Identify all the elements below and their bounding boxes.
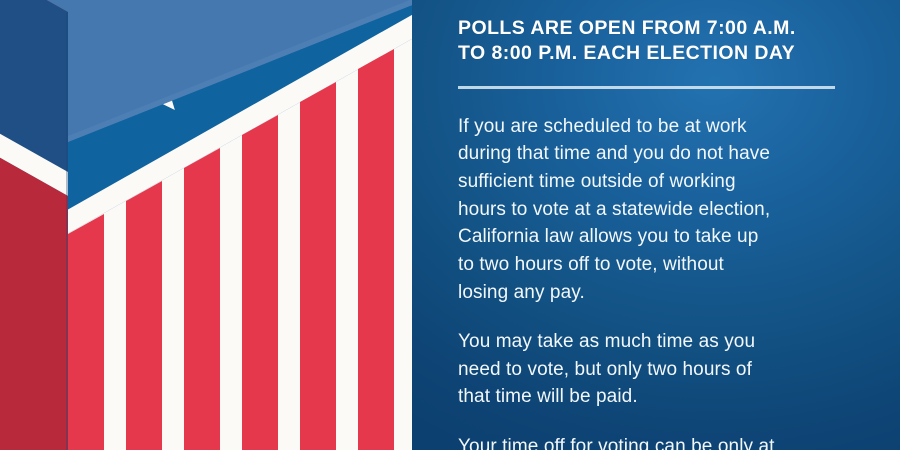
stripe-red-4 [242, 115, 278, 450]
flag-illustration [0, 0, 412, 450]
body-copy: If you are scheduled to be at work durin… [458, 113, 810, 450]
stripe-red-5 [300, 82, 336, 450]
stripe-red-1 [68, 214, 104, 450]
stripe-red-3 [184, 148, 220, 450]
paragraph-paid-time: You may take as much time as you need to… [458, 328, 810, 411]
headline-divider [458, 86, 835, 89]
information-panel: POLLS ARE OPEN FROM 7:00 A.M. TO 8:00 P.… [412, 0, 900, 450]
block-corner-seam [66, 12, 68, 450]
page-title: POLLS ARE OPEN FROM 7:00 A.M. TO 8:00 P.… [458, 0, 858, 67]
american-flag-3d-box-graphic [0, 0, 412, 450]
paragraph-work-schedule: If you are scheduled to be at work durin… [458, 113, 810, 306]
voting-rights-poster: POLLS ARE OPEN FROM 7:00 A.M. TO 8:00 P.… [0, 0, 900, 450]
stripe-red-2 [126, 181, 162, 450]
information-panel-content: POLLS ARE OPEN FROM 7:00 A.M. TO 8:00 P.… [458, 0, 858, 450]
stripe-red-6 [358, 49, 394, 450]
paragraph-time-off-placement: Your time off for voting can be only at [458, 433, 810, 450]
